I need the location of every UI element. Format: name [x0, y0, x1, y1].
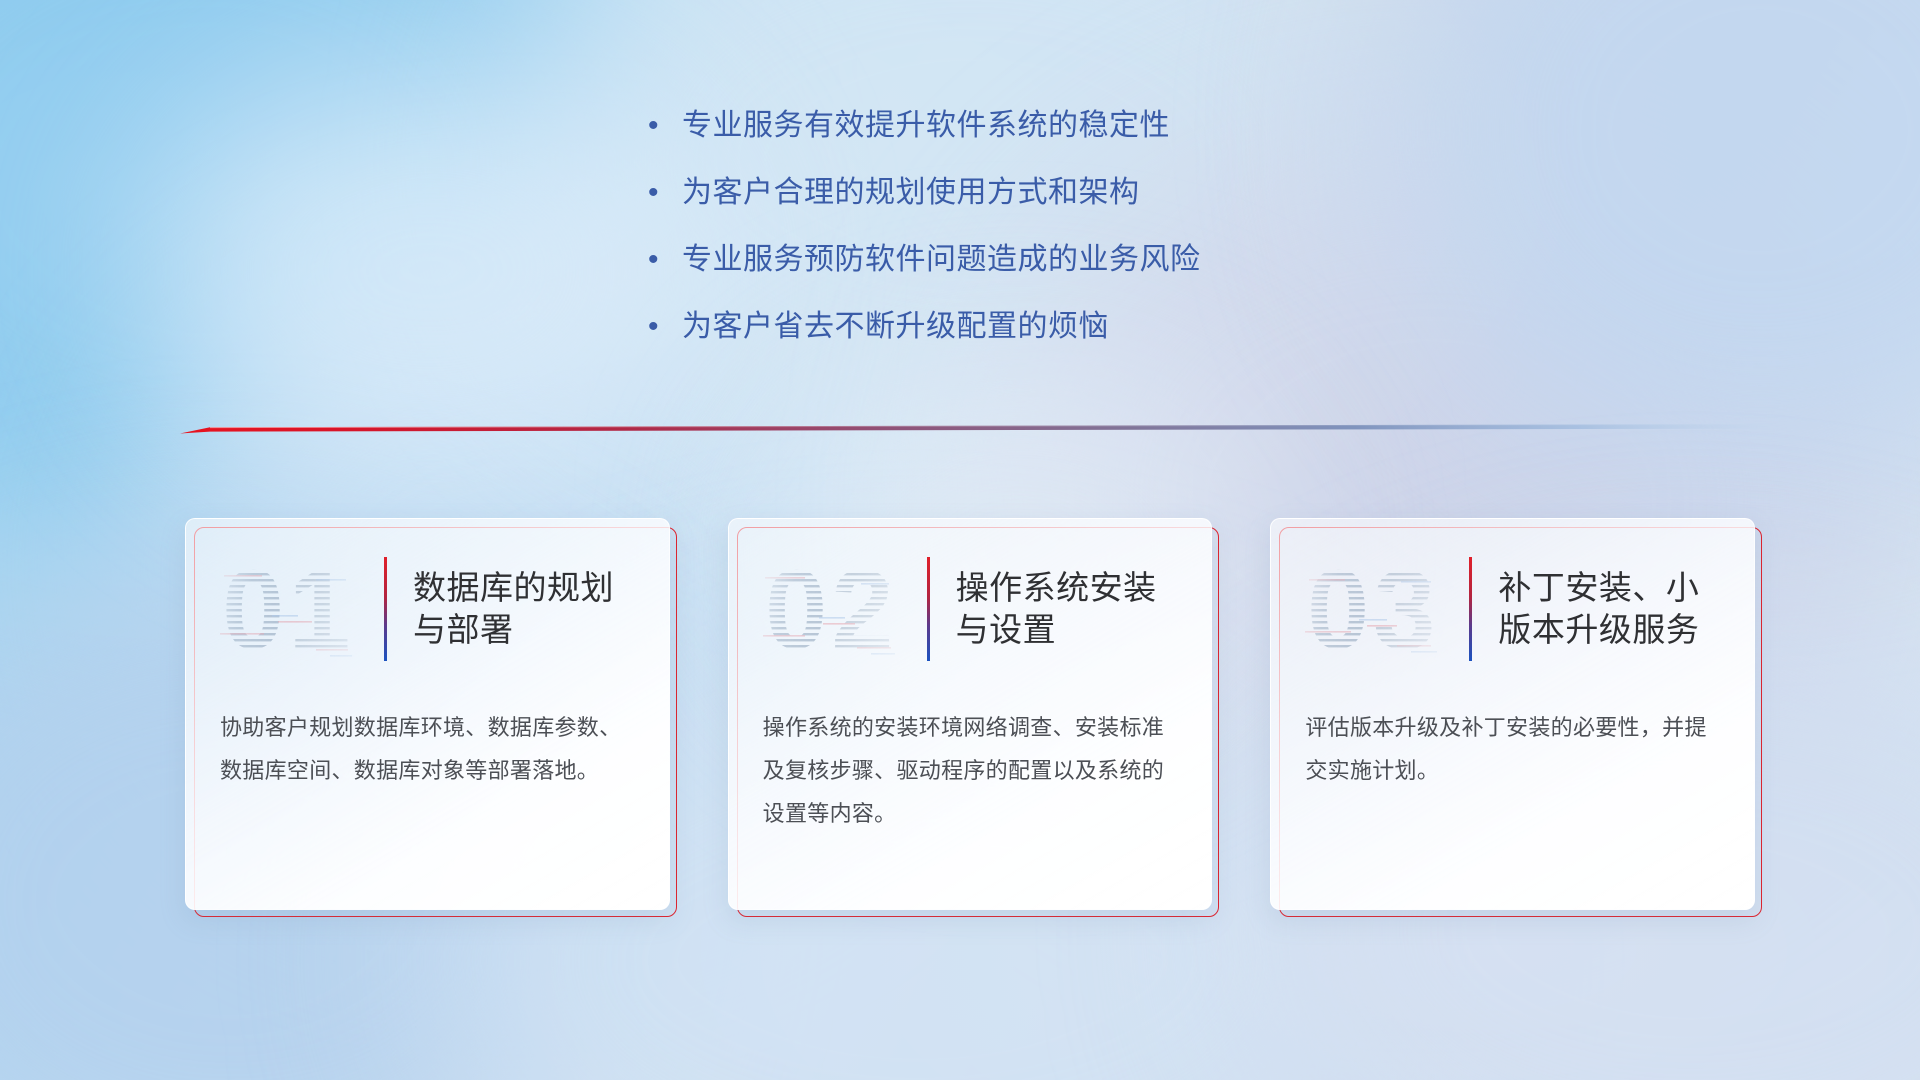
card-divider-rule: [1469, 557, 1472, 661]
card[interactable]: 03: [1270, 518, 1755, 910]
card-body-text: 评估版本升级及补丁安装的必要性，并提交实施计划。: [1305, 707, 1720, 793]
card-body-text: 协助客户规划数据库环境、数据库参数、数据库空间、数据库对象等部署落地。: [220, 707, 635, 793]
bullet-list: • 专业服务有效提升软件系统的稳定性 • 为客户合理的规划使用方式和架构 • 专…: [648, 108, 1548, 376]
list-item: • 专业服务有效提升软件系统的稳定性: [648, 108, 1548, 144]
card-header: 02: [763, 545, 1178, 673]
card-header: 03: [1305, 545, 1720, 673]
bullet-text: 为客户合理的规划使用方式和架构: [682, 175, 1140, 211]
bullet-dot-icon: •: [648, 312, 682, 342]
card-divider-rule: [927, 557, 930, 661]
svg-text:01: 01: [222, 549, 355, 669]
card-title: 补丁安装、小版本升级服务: [1498, 567, 1720, 651]
list-item: • 专业服务预防软件问题造成的业务风险: [648, 242, 1548, 278]
list-item: • 为客户合理的规划使用方式和架构: [648, 175, 1548, 211]
section-divider: [180, 418, 1770, 440]
card-list: 01: [185, 518, 1755, 910]
card-number-glyph: 02: [763, 549, 917, 669]
card-number-glyph: 01: [220, 549, 374, 669]
bullet-text: 专业服务预防软件问题造成的业务风险: [682, 242, 1201, 278]
card-header: 01: [220, 545, 635, 673]
bullet-dot-icon: •: [648, 178, 682, 208]
card-number-glyph: 03: [1305, 549, 1459, 669]
card-title: 操作系统安装与设置: [956, 567, 1178, 651]
card[interactable]: 02: [728, 518, 1213, 910]
slide-root: • 专业服务有效提升软件系统的稳定性 • 为客户合理的规划使用方式和架构 • 专…: [0, 0, 1920, 1080]
card-surface: 03: [1270, 518, 1755, 910]
bullet-dot-icon: •: [648, 111, 682, 141]
card[interactable]: 01: [185, 518, 670, 910]
bullet-text: 专业服务有效提升软件系统的稳定性: [682, 108, 1170, 144]
card-title: 数据库的规划与部署: [413, 567, 635, 651]
card-surface: 01: [185, 518, 670, 910]
card-divider-rule: [384, 557, 387, 661]
bullet-dot-icon: •: [648, 245, 682, 275]
card-surface: 02: [728, 518, 1213, 910]
list-item: • 为客户省去不断升级配置的烦恼: [648, 309, 1548, 345]
bullet-text: 为客户省去不断升级配置的烦恼: [682, 309, 1109, 345]
svg-text:02: 02: [765, 549, 898, 669]
card-body-text: 操作系统的安装环境网络调查、安装标准及复核步骤、驱动程序的配置以及系统的设置等内…: [763, 707, 1178, 836]
